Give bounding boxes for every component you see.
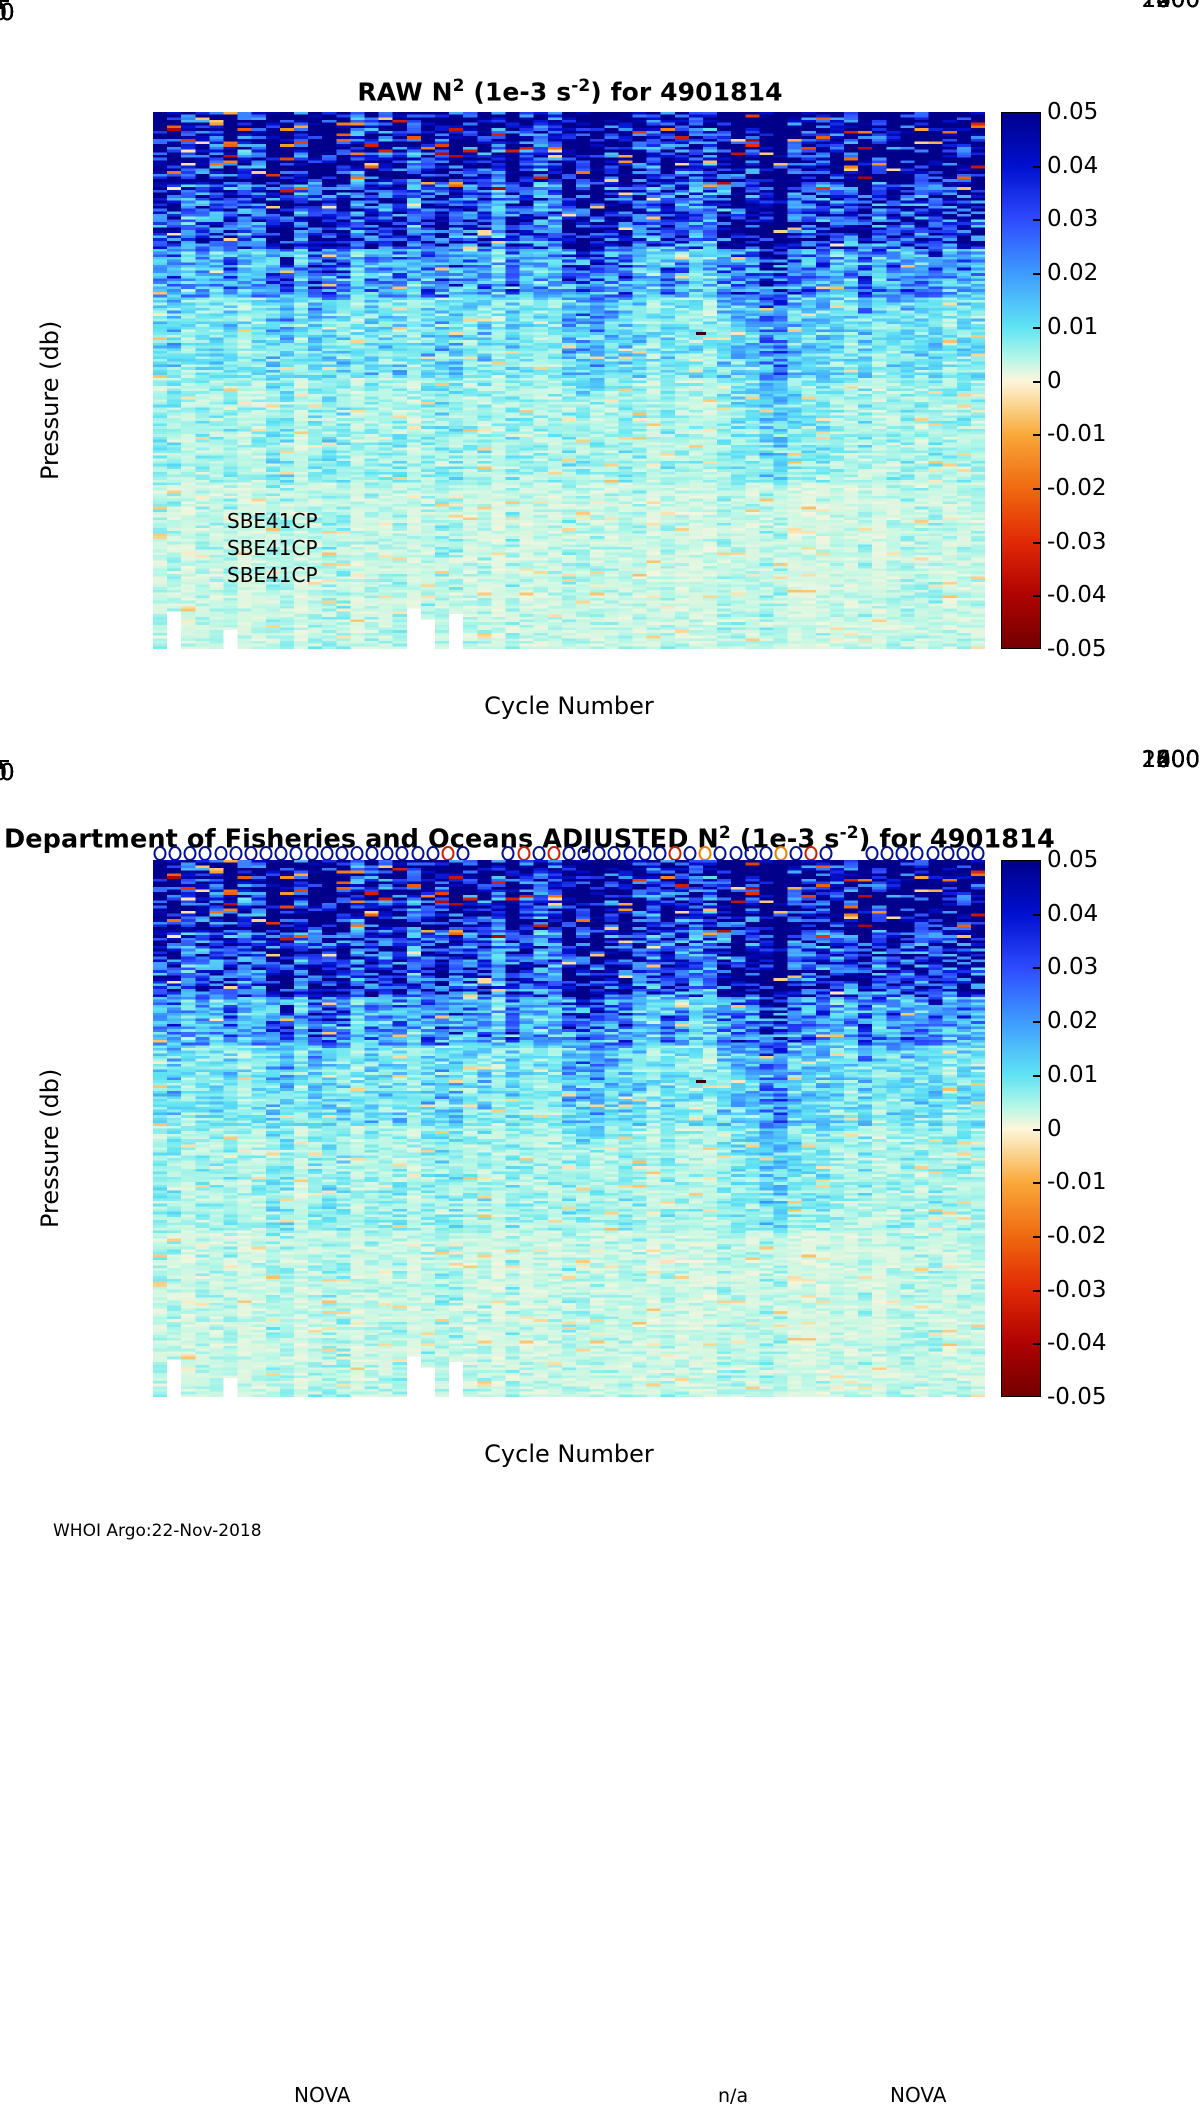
adjusted-annotation-platform-1: NOVA (294, 2083, 350, 2107)
qc-marker (775, 846, 788, 861)
qc-marker (396, 846, 409, 861)
qc-marker (911, 846, 924, 861)
qc-marker (456, 846, 469, 861)
title-superscript-minus2: -2 (571, 76, 590, 96)
x-tick-label: 50 (0, 760, 15, 786)
colorbar-tick-mark (1033, 488, 1041, 490)
colorbar-tick-mark (1033, 219, 1041, 221)
colorbar-tick-mark (1033, 914, 1041, 916)
title-text-prefix: RAW N (357, 77, 452, 106)
qc-marker (669, 846, 682, 861)
qc-marker (805, 846, 818, 861)
colorbar-tick-mark (1033, 1021, 1041, 1023)
raw-annotation-sensor-3: SBE41CP (227, 563, 318, 587)
colorbar-tick-mark (1033, 1343, 1041, 1345)
colorbar-tick-label: -0.03 (1047, 1277, 1107, 1303)
qc-marker (335, 846, 348, 861)
colorbar-tick-label: 0.04 (1047, 153, 1098, 179)
qc-marker (320, 846, 333, 861)
qc-marker (169, 846, 182, 861)
qc-marker (684, 846, 697, 861)
title-superscript-minus2: -2 (840, 823, 859, 843)
footer-credit: WHOI Argo:22-Nov-2018 (53, 1521, 262, 1541)
colorbar-tick-mark (1033, 1182, 1041, 1184)
adjusted-heatmap-image (153, 860, 985, 1397)
colorbar-tick-mark (1033, 1236, 1041, 1238)
colorbar-tick-label: -0.01 (1047, 1169, 1107, 1195)
colorbar-tick-label: 0.05 (1047, 847, 1098, 873)
qc-marker (547, 846, 560, 861)
qc-marker (426, 846, 439, 861)
qc-marker (502, 846, 515, 861)
colorbar-tick-label: -0.02 (1047, 1223, 1107, 1249)
colorbar-tick-mark (1033, 381, 1041, 383)
qc-marker (275, 846, 288, 861)
qc-marker (638, 846, 651, 861)
qc-marker (623, 846, 636, 861)
colorbar-tick-label: -0.02 (1047, 475, 1107, 501)
qc-marker (714, 846, 727, 861)
qc-marker (790, 846, 803, 861)
qc-marker (290, 846, 303, 861)
qc-marker (593, 846, 606, 861)
colorbar-tick-label: 0 (1047, 1116, 1062, 1142)
title-superscript-2: 2 (719, 823, 731, 843)
colorbar-tick-label: 0 (1047, 368, 1062, 394)
qc-marker (305, 846, 318, 861)
colorbar-tick-label: -0.04 (1047, 1330, 1107, 1356)
colorbar-tick-label: -0.01 (1047, 421, 1107, 447)
qc-marker (926, 846, 939, 861)
colorbar-tick-mark (1033, 1290, 1041, 1292)
qc-marker (820, 846, 833, 861)
colorbar-tick-mark (1033, 273, 1041, 275)
qc-marker (244, 846, 257, 861)
raw-colorbar[interactable]: 0.050.040.030.020.010-0.01-0.02-0.03-0.0… (1001, 112, 1041, 649)
qc-marker (971, 846, 984, 861)
colorbar-tick-label: 0.02 (1047, 1008, 1098, 1034)
colorbar-tick-label: 0.01 (1047, 314, 1098, 340)
adjusted-y-axis-label: Pressure (db) (36, 1069, 64, 1228)
colorbar-tick-mark (1033, 595, 1041, 597)
qc-marker (184, 846, 197, 861)
colorbar-tick-label: 0.05 (1047, 99, 1098, 125)
qc-marker (699, 846, 712, 861)
qc-marker (896, 846, 909, 861)
x-tick-mark (0, 760, 2, 769)
colorbar-tick-label: 0.04 (1047, 901, 1098, 927)
qc-marker (563, 846, 576, 861)
colorbar-tick-label: 0.01 (1047, 1062, 1098, 1088)
colorbar-tick-label: -0.04 (1047, 582, 1107, 608)
adjusted-annotation-platform-2: n/a (718, 2085, 748, 2107)
adjusted-x-axis-label: Cycle Number (153, 1440, 985, 1468)
colorbar-tick-mark (1033, 1129, 1041, 1131)
qc-marker (199, 846, 212, 861)
qc-marker (881, 846, 894, 861)
qc-marker (759, 846, 772, 861)
adjusted-annotation-platform-3: NOVA (890, 2083, 946, 2107)
y-tick-label: 2000 (0, 747, 1200, 773)
qc-marker (865, 846, 878, 861)
qc-marker (744, 846, 757, 861)
title-text-suffix: ) for 4901814 (590, 77, 782, 106)
colorbar-tick-mark (1033, 327, 1041, 329)
colorbar-tick-label: -0.05 (1047, 636, 1107, 662)
qc-marker (214, 846, 227, 861)
colorbar-tick-mark (1033, 434, 1041, 436)
qc-marker (956, 846, 969, 861)
raw-annotation-sensor-2: SBE41CP (227, 536, 318, 560)
qc-marker (260, 846, 273, 861)
colorbar-tick-label: -0.03 (1047, 529, 1107, 555)
colorbar-tick-label: 0.02 (1047, 260, 1098, 286)
raw-x-axis-label: Cycle Number (153, 692, 985, 720)
adjusted-colorbar[interactable]: 0.050.040.030.020.010-0.01-0.02-0.03-0.0… (1001, 860, 1041, 1397)
colorbar-tick-mark (1033, 967, 1041, 969)
qc-marker (229, 846, 242, 861)
qc-marker (154, 846, 167, 861)
raw-annotation-sensor-1: SBE41CP (227, 509, 318, 533)
qc-marker (517, 846, 530, 861)
colorbar-tick-label: -0.05 (1047, 1384, 1107, 1410)
title-superscript-2: 2 (453, 76, 465, 96)
qc-marker (366, 846, 379, 861)
qc-marker (653, 846, 666, 861)
x-tick-label: 50 (0, 0, 15, 26)
colorbar-tick-mark (1033, 1075, 1041, 1077)
colorbar-tick-label: 0.03 (1047, 954, 1098, 980)
qc-marker (941, 846, 954, 861)
colorbar-tick-label: 0.03 (1047, 206, 1098, 232)
raw-y-axis-label: Pressure (db) (36, 321, 64, 480)
qc-marker (578, 846, 591, 861)
qc-marker (350, 846, 363, 861)
panel-raw: RAW N2 (1e-3 s-2) for 4901814 2004006008… (0, 0, 1200, 760)
title-text-mid: (1e-3 s (465, 77, 572, 106)
colorbar-tick-mark (1033, 166, 1041, 168)
colorbar-tick-mark (1033, 542, 1041, 544)
qc-marker (411, 846, 424, 861)
qc-marker (381, 846, 394, 861)
y-tick-label: 2000 (0, 0, 1200, 13)
qc-marker (441, 846, 454, 861)
qc-marker (532, 846, 545, 861)
qc-marker (608, 846, 621, 861)
adjusted-heatmap-axes[interactable] (153, 860, 985, 1397)
qc-marker (729, 846, 742, 861)
x-tick-mark (0, 0, 2, 9)
panel-adjusted: Department of Fisheries and Oceans ADJUS… (0, 760, 1200, 1500)
panel-raw-title: RAW N2 (1e-3 s-2) for 4901814 (0, 76, 1140, 106)
